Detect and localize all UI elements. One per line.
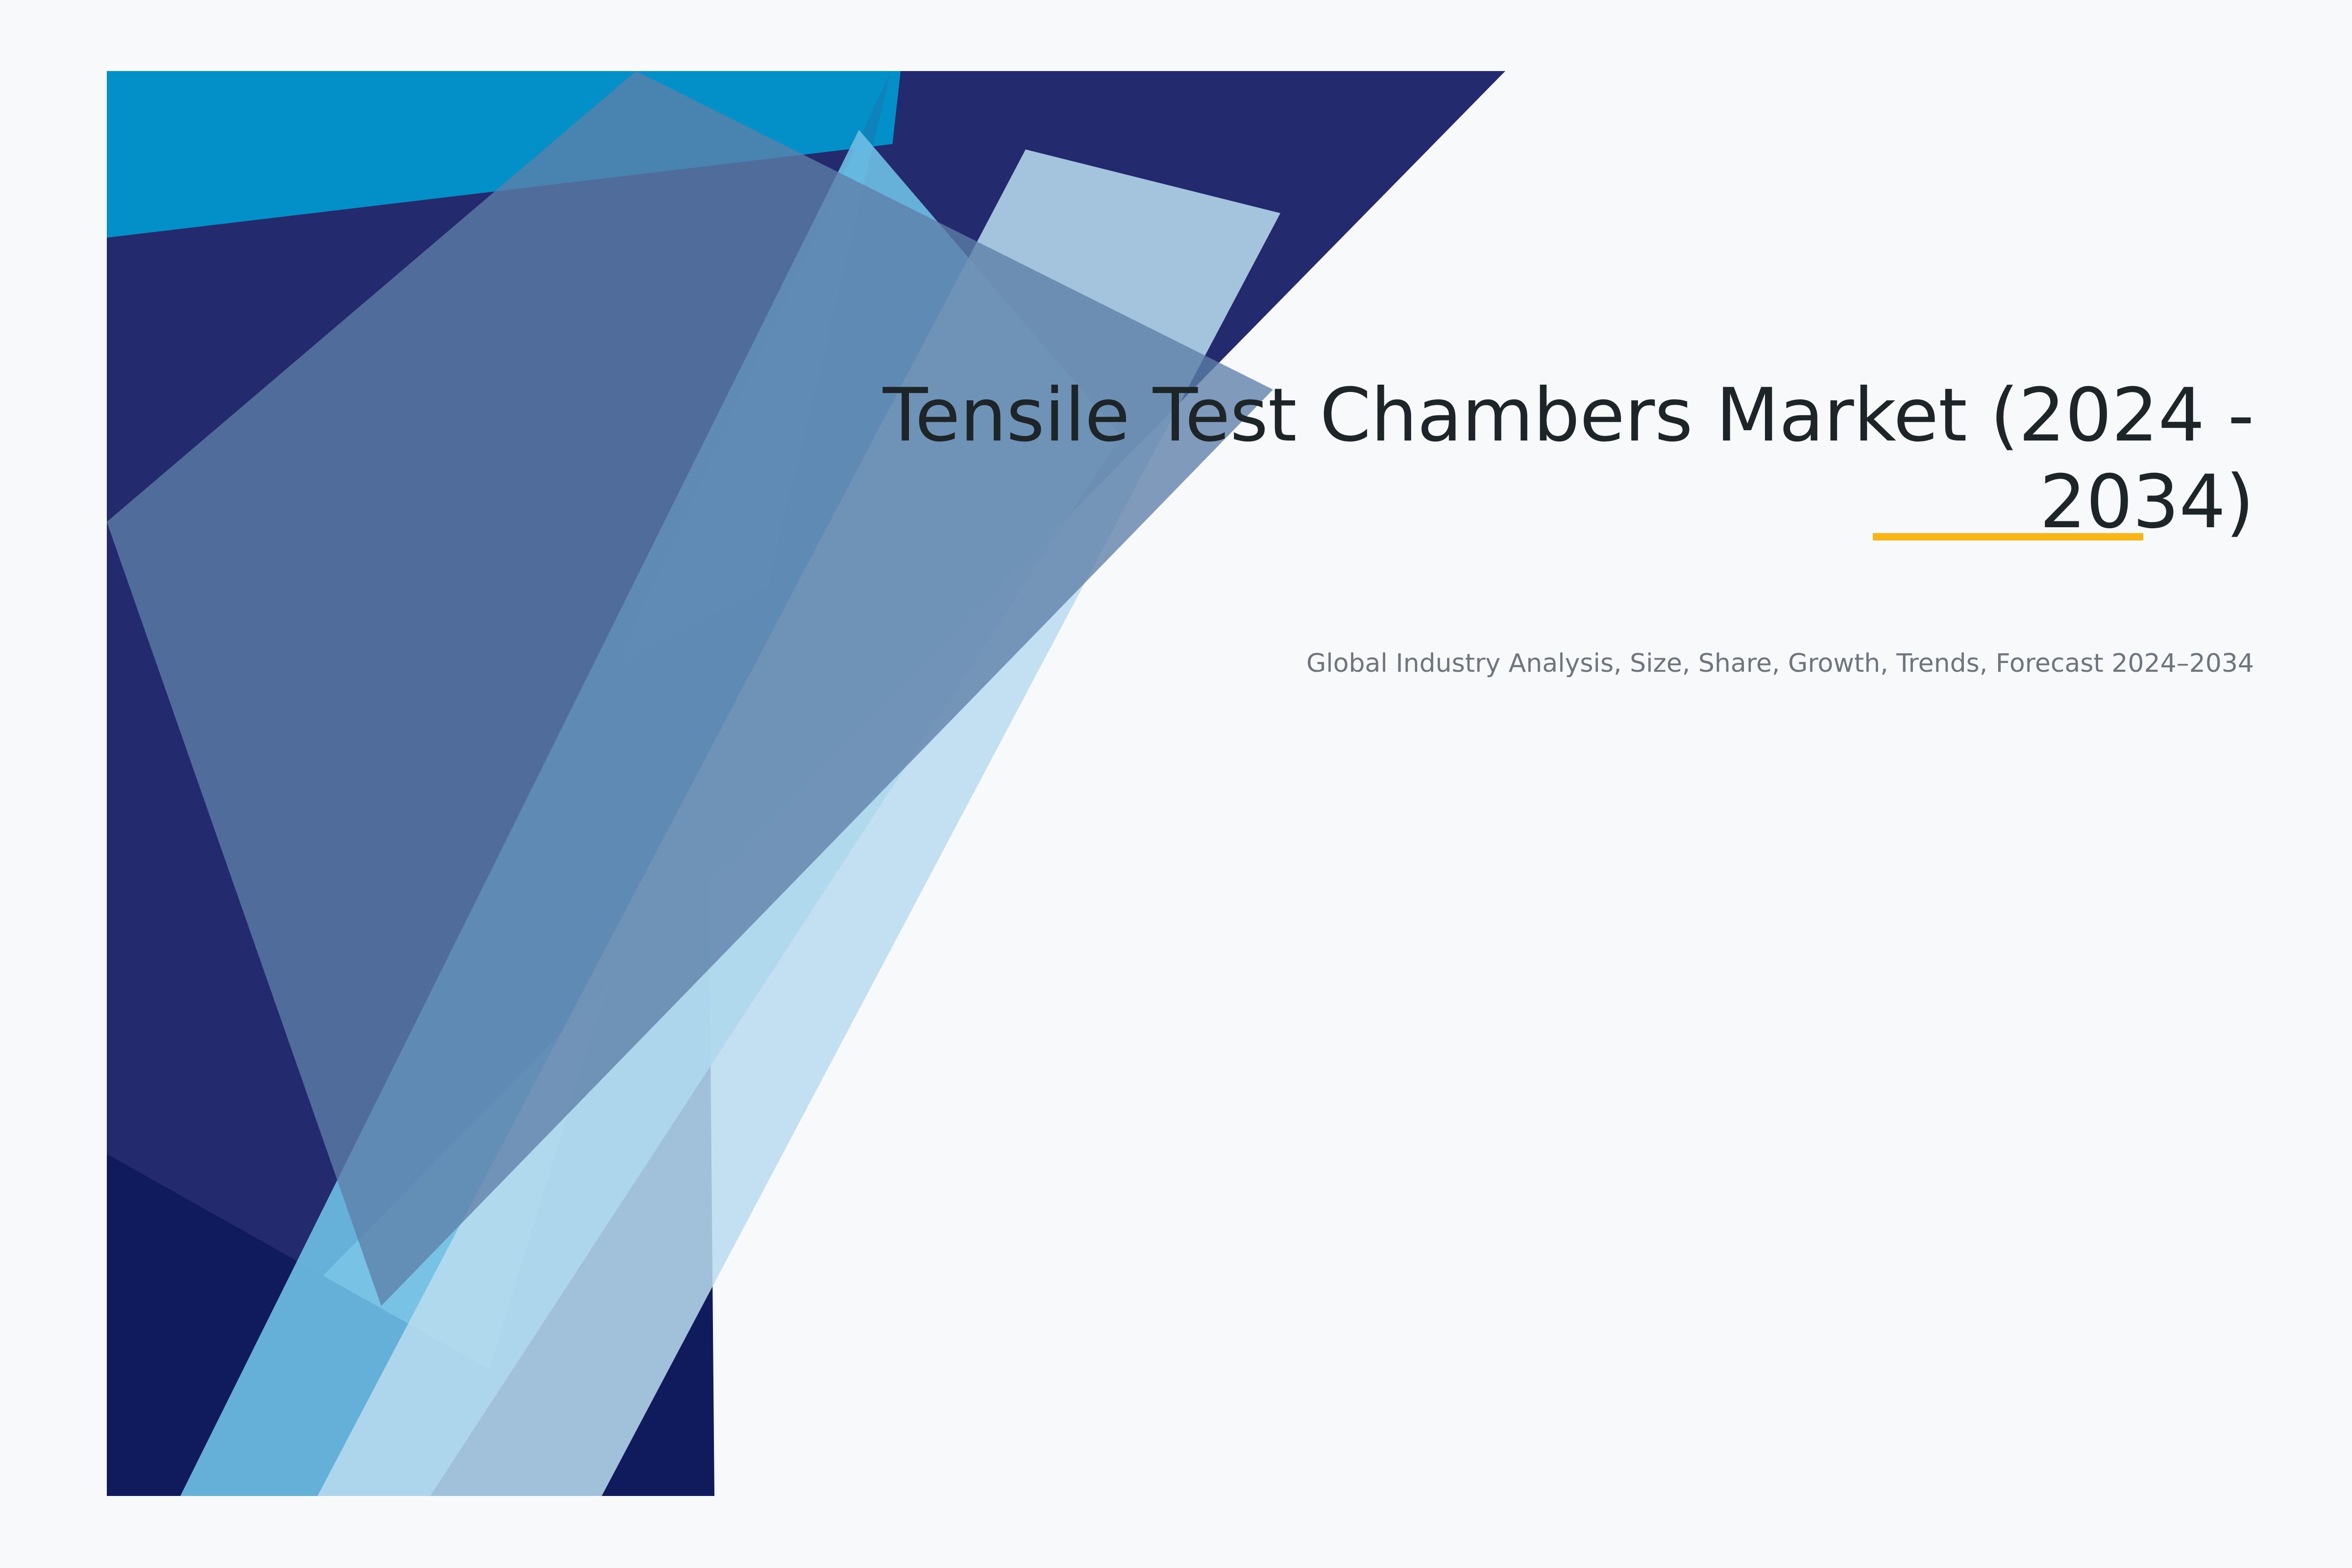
report-cover-page: Tensile Test Chambers Market (2024 - 203… <box>0 0 2352 1568</box>
page-subtitle: Global Industry Analysis, Size, Share, G… <box>1274 647 2254 681</box>
abstract-geometric-artwork <box>107 71 1508 1496</box>
title-block: Tensile Test Chambers Market (2024 - 203… <box>759 372 2254 546</box>
page-title: Tensile Test Chambers Market (2024 - 203… <box>759 372 2254 546</box>
